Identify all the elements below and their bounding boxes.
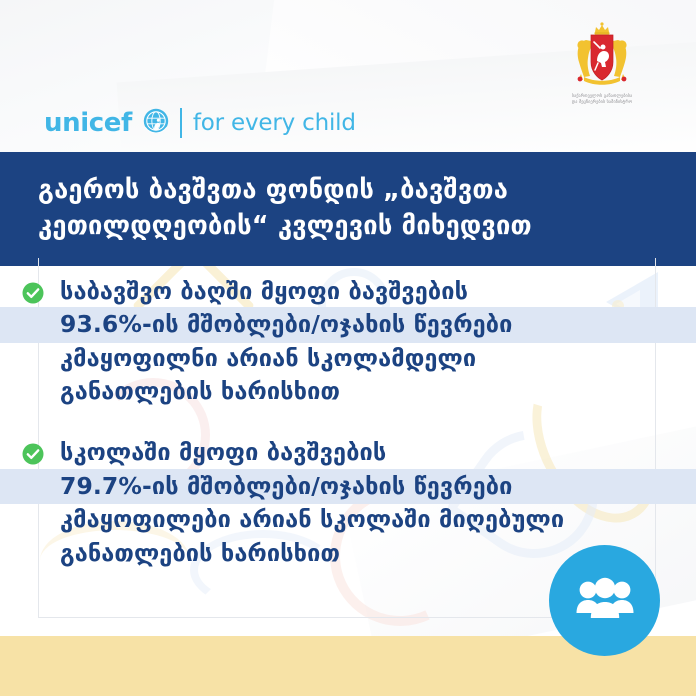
title-band: გაეროს ბავშვთა ფონდის „ბავშვთა კეთილდღეო…	[0, 152, 696, 266]
green-check-circle-icon	[22, 282, 44, 304]
unicef-logo: unicef for every child	[44, 108, 356, 138]
bullet-line: საბავშვო ბაღში მყოფი ბავშვების	[60, 275, 696, 308]
georgia-coat-of-arms-icon	[544, 22, 660, 90]
poster-header: საქართველოს განათლებისა და მეცნიერების ს…	[0, 0, 696, 152]
group-of-people-icon	[574, 577, 636, 625]
bullet-line-highlighted: 79.7%-ის მშობლები/ოჯახის წევრები	[60, 470, 696, 503]
infographic-poster: საქართველოს განათლებისა და მეცნიერების ს…	[0, 0, 696, 696]
logo-divider	[180, 108, 182, 138]
green-check-circle-icon	[22, 443, 44, 465]
list-item: სკოლაში მყოფი ბავშვების 79.7%-ის მშობლებ…	[0, 436, 696, 569]
bullet-line-highlighted: 93.6%-ის მშობლები/ოჯახის წევრები	[60, 308, 696, 341]
poster-title: გაეროს ბავშვთა ფონდის „ბავშვთა კეთილდღეო…	[38, 172, 696, 244]
unicef-tagline: for every child	[193, 112, 356, 135]
bullet-line: კმაყოფილები არიან სკოლაში მიღებული	[60, 503, 696, 536]
list-item: საბავშვო ბაღში მყოფი ბავშვების 93.6%-ის …	[0, 275, 696, 408]
list-item-text: სკოლაში მყოფი ბავშვების 79.7%-ის მშობლებ…	[60, 436, 696, 569]
georgia-emblem-block: საქართველოს განათლებისა და მეცნიერების ს…	[544, 22, 660, 105]
bullet-line: განათლების ხარისხით	[60, 375, 696, 408]
list-item-text: საბავშვო ბაღში მყოფი ბავშვების 93.6%-ის …	[60, 275, 696, 408]
bullet-line: განათლების ხარისხით	[60, 537, 696, 570]
emblem-caption: საქართველოს განათლებისა და მეცნიერების ს…	[544, 93, 660, 105]
bullet-line: კმაყოფილნი არიან სკოლამდელი	[60, 342, 696, 375]
bullet-line: სკოლაში მყოფი ბავშვების	[60, 436, 696, 469]
unicef-globe-mother-child-icon	[143, 108, 169, 138]
unicef-wordmark: unicef	[44, 110, 132, 136]
bullet-list: საბავშვო ბაღში მყოფი ბავშვების 93.6%-ის …	[0, 275, 696, 598]
